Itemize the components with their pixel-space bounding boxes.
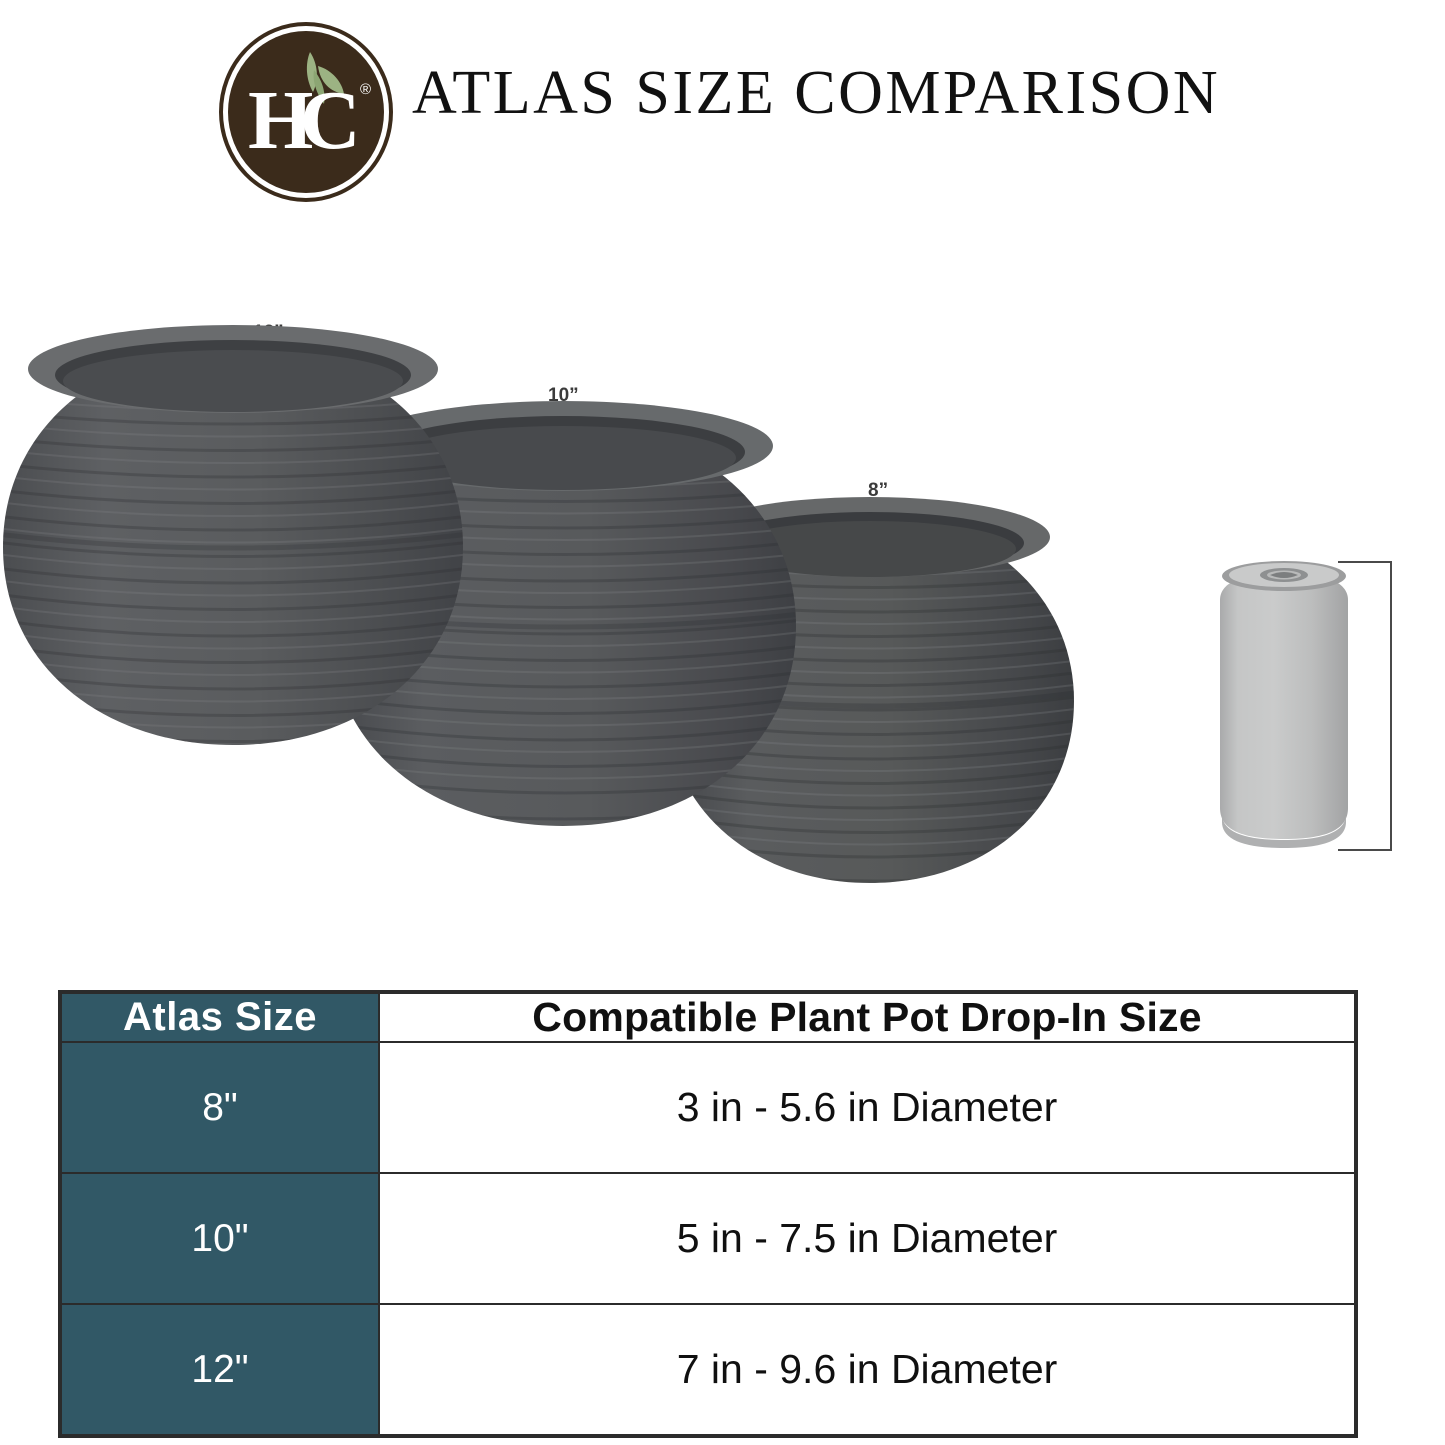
header: H C ® ATLAS SIZE COMPARISON [0,0,1445,215]
table-header-row: Atlas Size Compatible Plant Pot Drop-In … [61,993,1355,1042]
dimension-tick-bottom [1338,849,1392,851]
cell-compatible-8in: 3 in - 5.6 in Diameter [379,1042,1355,1173]
column-header-compatible-size: Compatible Plant Pot Drop-In Size [379,993,1355,1042]
size-compatibility-table: Atlas Size Compatible Plant Pot Drop-In … [58,990,1358,1438]
soda-can-reference [1208,556,1360,852]
table-row: 8" 3 in - 5.6 in Diameter [61,1042,1355,1173]
cell-atlas-size-10in: 10" [61,1173,379,1304]
cell-atlas-size-8in: 8" [61,1042,379,1173]
planter-12in [0,325,468,757]
size-comparison-graphic: H C ® ATLAS SIZE COMPARISON [0,0,1445,1445]
table-row: 10" 5 in - 7.5 in Diameter [61,1173,1355,1304]
can-height-dimension-bracket [1368,561,1443,851]
dimension-tick-top [1338,561,1392,563]
column-header-atlas-size: Atlas Size [61,993,379,1042]
cell-atlas-size-12in: 12" [61,1304,379,1435]
hc-logo: H C ® [218,22,394,202]
dimension-line [1390,561,1392,851]
svg-text:®: ® [360,81,371,98]
svg-text:C: C [300,74,361,167]
cell-compatible-12in: 7 in - 9.6 in Diameter [379,1304,1355,1435]
cell-compatible-10in: 5 in - 7.5 in Diameter [379,1173,1355,1304]
product-comparison-scene: 12” [0,215,1445,985]
dimension-label-backdrop [1372,899,1444,933]
table-row: 12" 7 in - 9.6 in Diameter [61,1304,1355,1435]
page-title: ATLAS SIZE COMPARISON [412,58,1220,129]
